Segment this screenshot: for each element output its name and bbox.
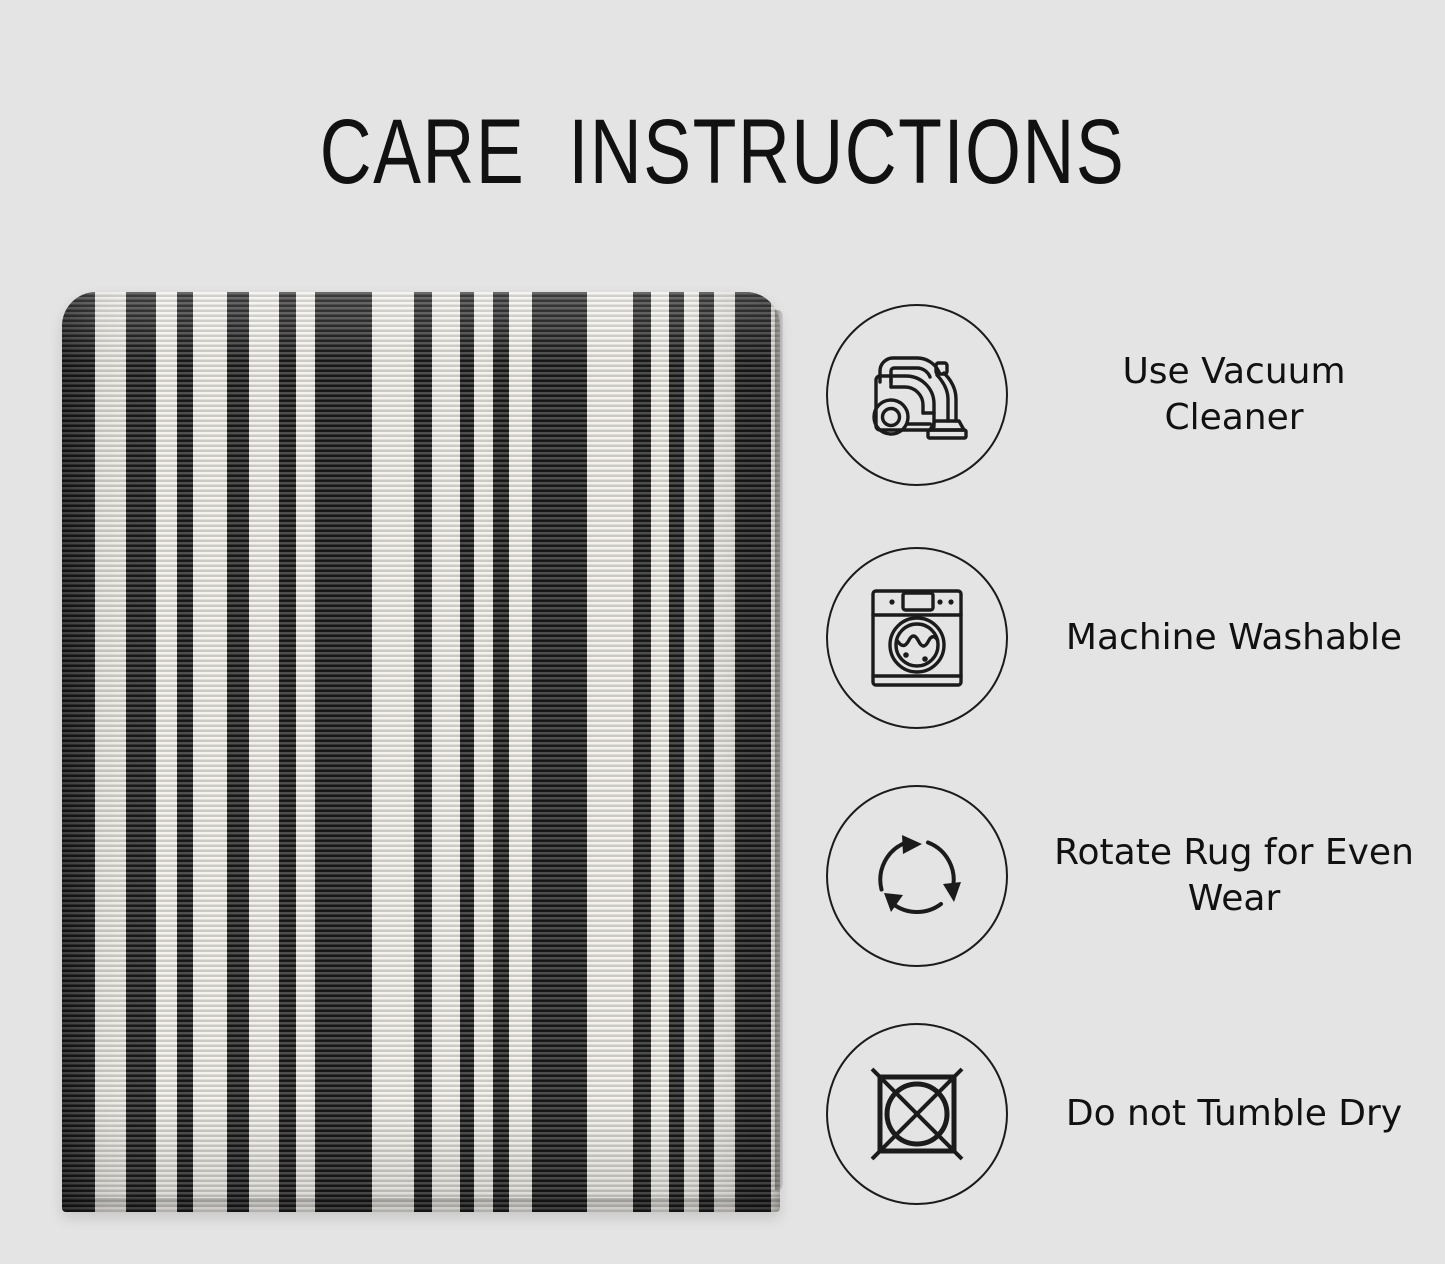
icon-circle-vacuum [826, 304, 1008, 486]
page-title: CARE INSTRUCTIONS [159, 106, 1286, 198]
rug-body [62, 292, 780, 1212]
instruction-label-do-not-tumble-dry: Do not Tumble Dry [1048, 1091, 1426, 1137]
instruction-row-do-not-tumble-dry: Do not Tumble Dry [826, 1022, 1426, 1206]
rug-stripe [735, 292, 771, 1212]
rug-stripe-pattern [62, 292, 780, 1212]
product-image-rug [62, 292, 780, 1212]
rug-stripe [414, 292, 433, 1212]
rug-stripe [315, 292, 372, 1212]
rug-stripe [669, 292, 683, 1212]
vacuum-cleaner-icon [858, 336, 976, 454]
rug-stripe [699, 292, 714, 1212]
instruction-row-machine-washable: Machine Washable [826, 546, 1426, 730]
rug-stripe [126, 292, 156, 1212]
rug-stripe [532, 292, 587, 1212]
rug-stripe [460, 292, 474, 1212]
instruction-label-rotate-rug: Rotate Rug for Even Wear [1048, 830, 1426, 922]
icon-circle-do-not-tumble-dry [826, 1023, 1008, 1205]
instruction-row-rotate-rug: Rotate Rug for Even Wear [826, 784, 1426, 968]
rug-stripe [633, 292, 651, 1212]
rug-stripe [493, 292, 509, 1212]
rug-stripe [279, 292, 296, 1212]
rotate-arrows-icon [858, 817, 976, 935]
rug-stripe [177, 292, 193, 1212]
rug-stripe [227, 292, 249, 1212]
rug-stripe [62, 292, 95, 1212]
instruction-label-use-vacuum-cleaner: Use Vacuum Cleaner [1048, 349, 1426, 441]
do-not-tumble-dry-icon [858, 1055, 976, 1173]
icon-circle-rotate [826, 785, 1008, 967]
instruction-row-use-vacuum-cleaner: Use Vacuum Cleaner [826, 303, 1426, 487]
instruction-label-machine-washable: Machine Washable [1048, 615, 1426, 661]
icon-circle-washing-machine [826, 547, 1008, 729]
washing-machine-icon [858, 579, 976, 697]
